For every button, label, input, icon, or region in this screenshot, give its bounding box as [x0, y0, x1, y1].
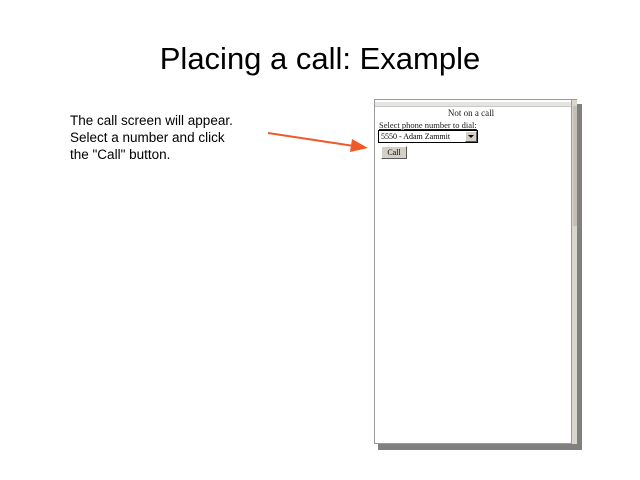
slide-canvas: Placing a call: Example The call screen … [0, 0, 640, 480]
phone-number-select[interactable]: 5550 - Adam Zammit [378, 130, 478, 143]
phone-number-select-value: 5550 - Adam Zammit [379, 132, 465, 141]
browser-toolbar-divider [375, 102, 577, 107]
instruction-text-block: The call screen will appear. Select a nu… [70, 112, 285, 163]
instruction-line: The call screen will appear. [70, 112, 285, 129]
instruction-line: Select a number and click [70, 129, 285, 146]
call-status-text: Not on a call [375, 108, 567, 118]
scrollbar-thumb[interactable] [573, 106, 577, 226]
call-button[interactable]: Call [381, 146, 407, 159]
dial-number-label: Select phone number to dial: [379, 120, 477, 130]
page-title: Placing a call: Example [0, 41, 640, 77]
vertical-scrollbar[interactable] [571, 100, 577, 444]
chevron-down-icon[interactable] [465, 131, 477, 142]
call-screen-panel: Not on a call Select phone number to dia… [374, 99, 577, 444]
instruction-line: the "Call" button. [70, 146, 285, 163]
